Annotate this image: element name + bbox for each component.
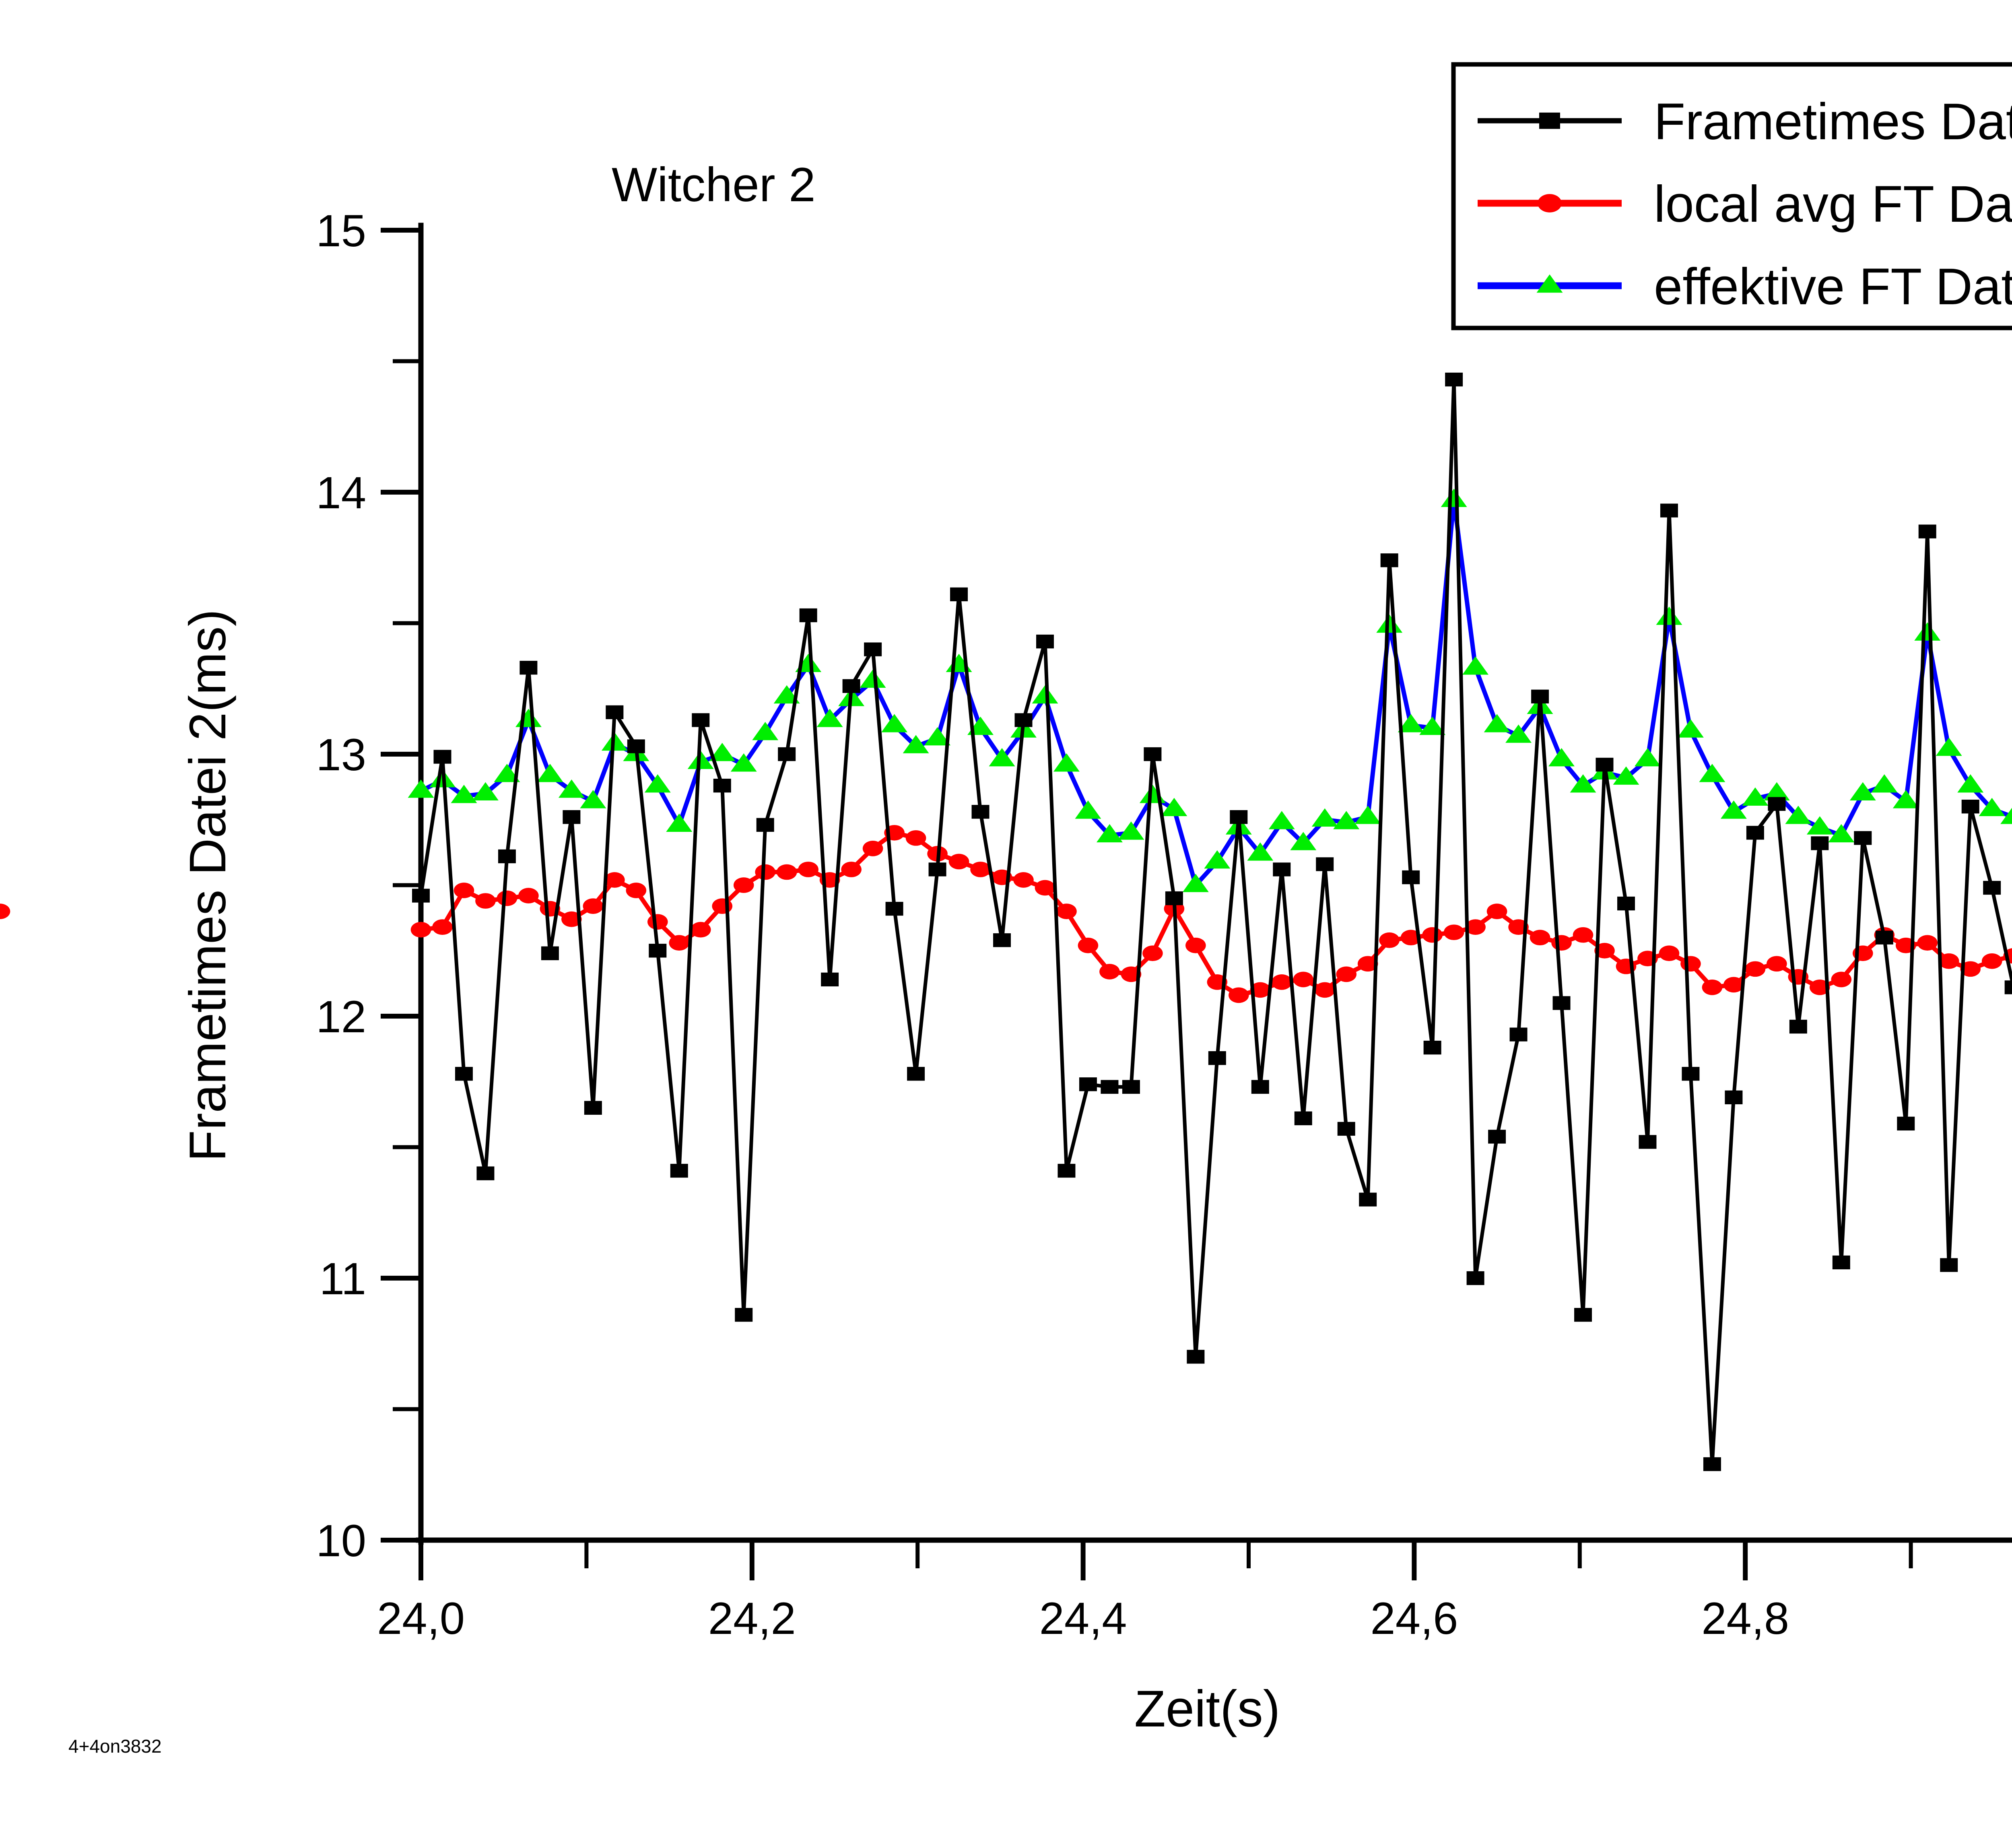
data-point-circle	[1013, 872, 1034, 888]
data-point-square	[1295, 1112, 1312, 1125]
data-point-triangle	[1721, 800, 1747, 819]
data-point-square	[1789, 1020, 1807, 1033]
data-point-circle	[1982, 953, 2002, 969]
data-point-triangle	[1635, 748, 1661, 767]
x-tick-label: 24,6	[1370, 1593, 1458, 1644]
series-polyline	[421, 500, 2012, 885]
y-axis-tick-labels: 101112131415	[316, 206, 366, 1566]
data-point-square	[886, 902, 903, 916]
data-point-square	[1746, 826, 1764, 839]
data-point-triangle	[1936, 738, 1962, 756]
data-point-square	[1165, 891, 1183, 905]
data-point-circle	[1336, 966, 1356, 982]
data-point-circle	[669, 935, 689, 951]
data-point-circle	[1831, 972, 1852, 988]
data-point-triangle	[1269, 811, 1295, 829]
data-point-triangle	[1656, 606, 1682, 625]
data-point-square	[1833, 1256, 1850, 1269]
data-point-square	[735, 1308, 752, 1322]
data-point-square	[1273, 862, 1290, 876]
chart-figure: 101112131415 24,024,224,424,624,825,0 Wi…	[0, 0, 2012, 1848]
chart-legend[interactable]: Frametimes Datei 2(ms)local avg FT Datei…	[1453, 64, 2012, 328]
data-point-square	[1682, 1067, 1699, 1081]
data-point-triangle	[645, 774, 671, 793]
y-tick-label: 11	[320, 1254, 366, 1304]
data-point-circle	[1573, 927, 1594, 943]
data-point-square	[584, 1101, 602, 1115]
y-tick-label: 13	[316, 730, 366, 780]
data-point-square	[972, 805, 990, 819]
data-point-circle	[1680, 956, 1701, 971]
data-point-square	[800, 608, 817, 622]
series-effektive-ft	[408, 489, 2012, 892]
data-point-square	[1359, 1193, 1377, 1207]
data-point-triangle	[1484, 714, 1510, 732]
data-point-circle	[734, 877, 754, 893]
data-point-circle	[949, 854, 969, 870]
data-point-square	[1510, 1027, 1528, 1041]
data-point-triangle	[1957, 774, 1983, 793]
data-point-circle	[863, 841, 883, 856]
data-point-square	[843, 679, 860, 693]
data-point-circle	[1056, 903, 1077, 919]
data-point-square	[1014, 713, 1032, 727]
data-point-circle	[497, 891, 517, 906]
data-point-circle	[712, 898, 732, 914]
data-point-triangle	[1032, 685, 1058, 704]
legend-label-0: Frametimes Datei 2(ms)	[1654, 93, 2012, 151]
data-point-square	[1854, 831, 1872, 845]
data-point-square	[606, 705, 623, 719]
data-point-square	[498, 850, 516, 863]
data-point-circle	[1487, 903, 1507, 919]
data-point-square	[670, 1164, 688, 1178]
data-point-circle	[1659, 945, 1680, 961]
data-point-triangle	[1678, 719, 1704, 738]
y-axis-ticks	[381, 230, 421, 1540]
data-point-circle	[583, 898, 604, 914]
data-point-triangle	[1914, 622, 1940, 641]
data-point-square	[1617, 897, 1635, 910]
data-point-square	[1553, 996, 1571, 1010]
data-point-square	[1488, 1130, 1506, 1143]
data-point-square	[627, 739, 645, 753]
data-point-square	[1876, 931, 1893, 945]
data-point-square	[1079, 1077, 1097, 1091]
data-point-circle	[1917, 935, 1938, 951]
data-point-square	[519, 661, 537, 674]
data-point-square	[1467, 1271, 1484, 1285]
data-point-square	[1811, 836, 1829, 850]
legend-label-2: effektive FT Datei 2	[1654, 258, 2012, 316]
y-tick-label: 12	[316, 992, 366, 1042]
data-point-square	[993, 933, 1011, 947]
data-point-circle	[1745, 961, 1766, 977]
data-point-triangle	[752, 722, 778, 740]
data-point-triangle	[1161, 798, 1187, 817]
data-point-circle	[1530, 930, 1550, 945]
data-point-square	[1208, 1051, 1226, 1065]
data-point-triangle	[860, 670, 886, 688]
data-point-triangle	[1871, 774, 1897, 793]
data-point-circle	[691, 922, 711, 938]
data-point-square	[476, 1166, 494, 1180]
data-point-triangle	[1462, 656, 1488, 675]
data-point-circle	[518, 888, 539, 903]
data-point-square	[778, 747, 796, 761]
data-point-square	[1187, 1350, 1204, 1363]
data-point-circle	[1767, 956, 1787, 971]
data-point-triangle	[1204, 850, 1230, 869]
data-point-triangle	[1355, 806, 1381, 824]
data-point-triangle	[1699, 764, 1725, 782]
data-point-square	[821, 973, 839, 986]
data-point-square	[649, 944, 666, 957]
data-point-triangle	[1140, 785, 1166, 803]
data-point-square	[1539, 113, 1560, 129]
data-point-square	[1983, 881, 2001, 895]
data-point-circle	[1315, 982, 1335, 998]
data-point-square	[563, 810, 580, 824]
data-point-triangle	[1075, 800, 1101, 819]
data-point-square	[1725, 1091, 1742, 1104]
data-point-square	[1058, 1164, 1075, 1178]
data-point-square	[950, 588, 968, 601]
data-point-triangle	[1312, 808, 1338, 827]
data-point-triangle	[666, 814, 692, 832]
data-point-triangle	[1441, 489, 1467, 507]
data-point-circle	[1142, 945, 1163, 961]
data-point-square	[1919, 524, 1936, 538]
data-point-circle	[475, 893, 496, 909]
data-point-circle	[1272, 974, 1292, 990]
data-point-square	[1897, 1117, 1915, 1130]
data-point-circle	[626, 883, 647, 898]
data-point-triangle	[1118, 821, 1144, 840]
data-point-circle	[1293, 972, 1313, 988]
data-point-triangle	[537, 764, 563, 782]
data-point-circle	[1422, 927, 1443, 943]
data-point-circle	[1551, 935, 1572, 951]
data-point-square	[1703, 1457, 1721, 1471]
data-point-square	[1596, 758, 1614, 771]
frametimes-line-chart: 101112131415 24,024,224,424,624,825,0 Wi…	[0, 0, 2012, 1848]
data-point-circle	[1099, 964, 1120, 980]
data-point-triangle	[1053, 753, 1080, 772]
data-point-triangle	[515, 709, 542, 727]
data-point-square	[1660, 503, 1678, 517]
data-point-square	[1424, 1041, 1441, 1054]
data-point-square	[1122, 1080, 1140, 1094]
footer-watermark: 4+4on3832	[68, 1736, 162, 1757]
x-tick-label: 24,2	[708, 1593, 796, 1644]
axes-group	[418, 225, 2012, 1578]
data-point-circle	[1078, 938, 1099, 953]
data-point-circle	[1444, 924, 1464, 940]
data-point-square	[713, 779, 731, 792]
data-point-circle	[1035, 880, 1055, 896]
data-point-square	[455, 1067, 473, 1081]
data-point-circle	[1538, 194, 1562, 212]
x-axis-tick-labels: 24,024,224,424,624,825,0	[377, 1593, 2012, 1644]
data-point-square	[1574, 1308, 1592, 1322]
data-point-square	[864, 642, 882, 656]
data-point-circle	[1379, 932, 1400, 948]
data-point-square	[433, 750, 451, 763]
data-point-square	[1531, 690, 1549, 703]
data-point-square	[1338, 1122, 1355, 1136]
y-tick-label: 15	[316, 206, 366, 256]
data-point-circle	[0, 903, 10, 919]
data-point-square	[1639, 1135, 1656, 1149]
data-point-square	[907, 1067, 925, 1081]
data-point-square	[1381, 553, 1398, 567]
data-point-circle	[432, 919, 453, 935]
x-axis-title: Zeit(s)	[1134, 1680, 1280, 1738]
data-point-triangle	[1376, 615, 1402, 633]
data-point-circle	[1702, 980, 1723, 995]
data-point-square	[692, 713, 709, 727]
data-point-square	[541, 947, 559, 960]
data-point-square	[1230, 810, 1247, 824]
legend-label-1: local avg FT Datei 2	[1654, 175, 2012, 233]
data-point-square	[412, 889, 430, 902]
x-tick-label: 24,0	[377, 1593, 465, 1644]
x-axis-ticks	[421, 1540, 2012, 1580]
data-point-square	[929, 862, 946, 876]
data-point-square	[1316, 857, 1334, 871]
data-point-triangle	[881, 714, 907, 732]
data-point-square	[1144, 747, 1161, 761]
data-point-square	[1101, 1080, 1118, 1094]
data-point-square	[1251, 1080, 1269, 1094]
y-tick-label: 14	[316, 468, 366, 518]
x-tick-label: 24,8	[1701, 1593, 1789, 1644]
data-point-square	[1036, 635, 1054, 648]
data-point-square	[1940, 1258, 1958, 1272]
data-point-square	[757, 818, 774, 832]
data-point-square	[1402, 870, 1420, 884]
data-point-square	[1768, 797, 1785, 811]
data-point-circle	[798, 862, 818, 877]
data-point-circle	[1229, 988, 1249, 1003]
data-point-circle	[454, 883, 474, 898]
data-point-circle	[411, 922, 431, 938]
data-point-square	[1445, 373, 1463, 386]
data-point-circle	[755, 864, 775, 880]
data-point-circle	[841, 862, 862, 877]
data-point-square	[1962, 800, 1979, 813]
data-point-circle	[906, 830, 926, 846]
y-tick-label: 10	[316, 1516, 366, 1566]
data-point-circle	[1185, 938, 1206, 953]
y-axis-title: Frametimes Datei 2(ms)	[179, 609, 237, 1162]
data-point-triangle	[1548, 748, 1575, 767]
page-title: Witcher 2	[612, 158, 816, 212]
data-point-circle	[777, 864, 797, 880]
data-point-square	[2005, 980, 2012, 994]
x-tick-label: 24,4	[1039, 1593, 1127, 1644]
data-point-circle	[647, 914, 668, 930]
